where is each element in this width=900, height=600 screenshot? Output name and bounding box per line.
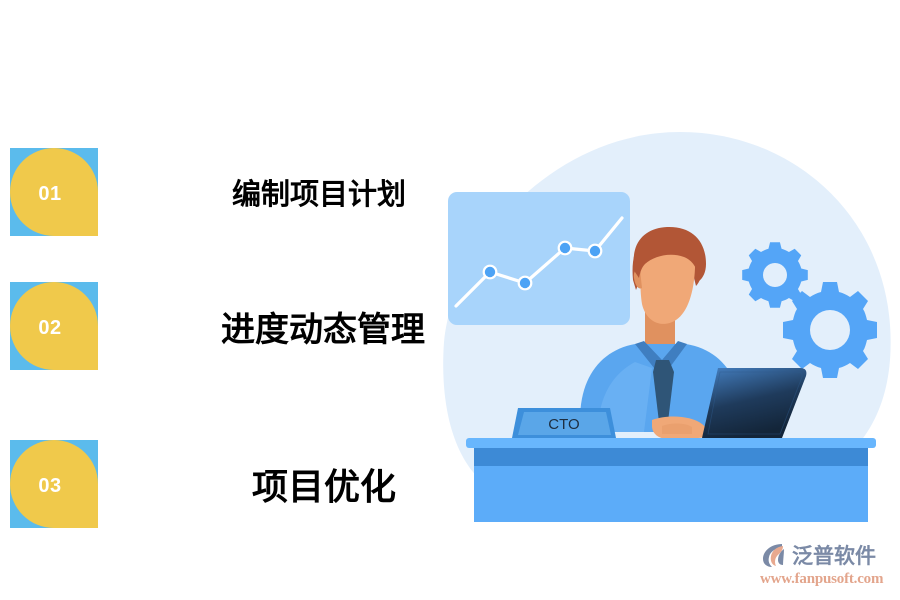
slide-canvas: CTO 01 编制项目计划 02 进度动态管理 <box>0 0 900 600</box>
step-row-03[interactable]: 03 项目优化 <box>0 440 440 532</box>
logo-url: www.fanpusoft.com <box>760 571 896 588</box>
cto-nameplate-text: CTO <box>548 416 579 433</box>
step-number-02: 02 <box>38 317 61 340</box>
step-badge-03: 03 <box>10 440 98 528</box>
cto-nameplate: CTO <box>512 408 616 438</box>
badge-leaf-shape: 02 <box>10 282 98 370</box>
fanpusoft-logo[interactable]: 泛普软件 www.fanpusoft.com <box>760 538 896 594</box>
step-label-01: 编制项目计划 <box>232 148 406 236</box>
step-label-03: 项目优化 <box>252 440 396 528</box>
step-number-03: 03 <box>38 475 61 498</box>
desk <box>466 438 876 522</box>
logo-row: 泛普软件 <box>760 538 896 572</box>
step-badge-02: 02 <box>10 282 98 370</box>
badge-leaf-shape: 01 <box>10 148 98 236</box>
fanpu-logo-mark <box>760 540 790 570</box>
cto-at-desk-illustration: CTO <box>430 120 900 540</box>
step-row-02[interactable]: 02 进度动态管理 <box>0 282 440 374</box>
step-badge-01: 01 <box>10 148 98 236</box>
step-row-01[interactable]: 01 编制项目计划 <box>0 148 440 240</box>
badge-leaf-shape: 03 <box>10 440 98 528</box>
line-chart-board <box>448 192 630 325</box>
step-label-02: 进度动态管理 <box>221 282 425 370</box>
step-number-01: 01 <box>38 183 61 206</box>
logo-company-name: 泛普软件 <box>792 540 876 570</box>
